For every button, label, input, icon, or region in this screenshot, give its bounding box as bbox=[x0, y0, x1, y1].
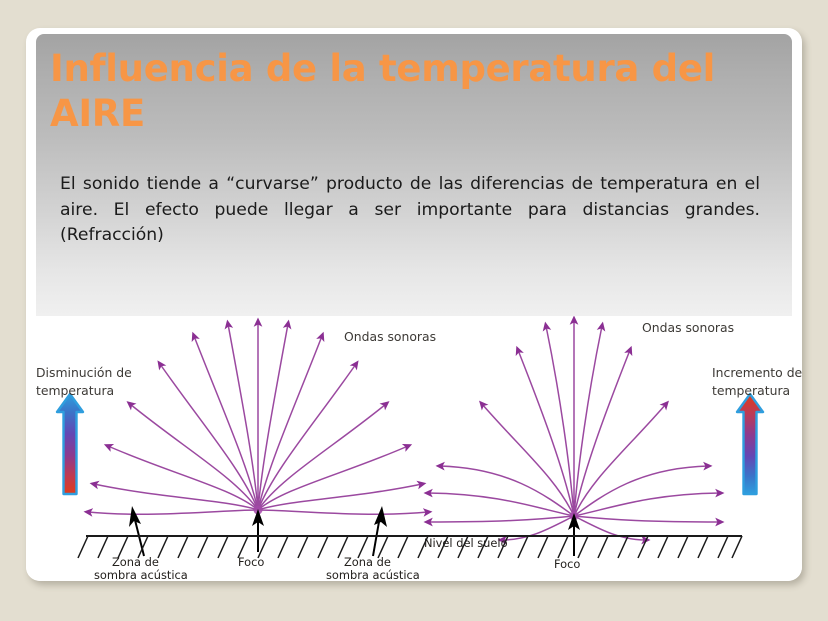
right-focus-label: Foco bbox=[554, 557, 580, 571]
ground-level-label: Nivel del suelo bbox=[424, 536, 508, 550]
refraction-diagram-svg: Disminución de temperatura Ondas sonoras bbox=[26, 316, 802, 581]
right-waves-label: Ondas sonoras bbox=[642, 320, 734, 335]
temperature-decrease-arrow bbox=[57, 394, 83, 494]
temperature-increase-arrow bbox=[737, 394, 763, 494]
left-waves-label: Ondas sonoras bbox=[344, 329, 436, 344]
left-focus-pointer-arrow bbox=[252, 509, 264, 552]
left-diagram-panel: Disminución de temperatura Ondas sonoras bbox=[36, 322, 436, 581]
slide-canvas: Influencia de la temperatura del AIRE El… bbox=[0, 0, 828, 621]
page-title: Influencia de la temperatura del AIRE bbox=[50, 46, 760, 136]
right-temperature-label-line1: Incremento de bbox=[712, 365, 802, 380]
right-diagram-panel: Incremento de temperatura Ondas sonoras bbox=[424, 320, 802, 571]
left-shadow-zone-label-2-line1: Zona de bbox=[344, 555, 391, 569]
slide-body-text: El sonido tiende a “curvarse” producto d… bbox=[60, 172, 760, 249]
refraction-diagram: Disminución de temperatura Ondas sonoras bbox=[26, 316, 802, 581]
left-sound-rays bbox=[88, 322, 428, 515]
right-sound-rays bbox=[428, 320, 720, 540]
right-temperature-label-line2: temperatura bbox=[712, 383, 790, 398]
left-shadow-zone-label-1-line2: sombra acústica bbox=[94, 568, 188, 581]
left-focus-label: Foco bbox=[238, 555, 264, 569]
left-temperature-label-line2: temperatura bbox=[36, 383, 114, 398]
left-temperature-label-line1: Disminución de bbox=[36, 365, 132, 380]
left-shadow-zone-label-2-line2: sombra acústica bbox=[326, 568, 420, 581]
right-focus-pointer-arrow bbox=[568, 513, 580, 556]
slide-card: Influencia de la temperatura del AIRE El… bbox=[26, 28, 802, 581]
